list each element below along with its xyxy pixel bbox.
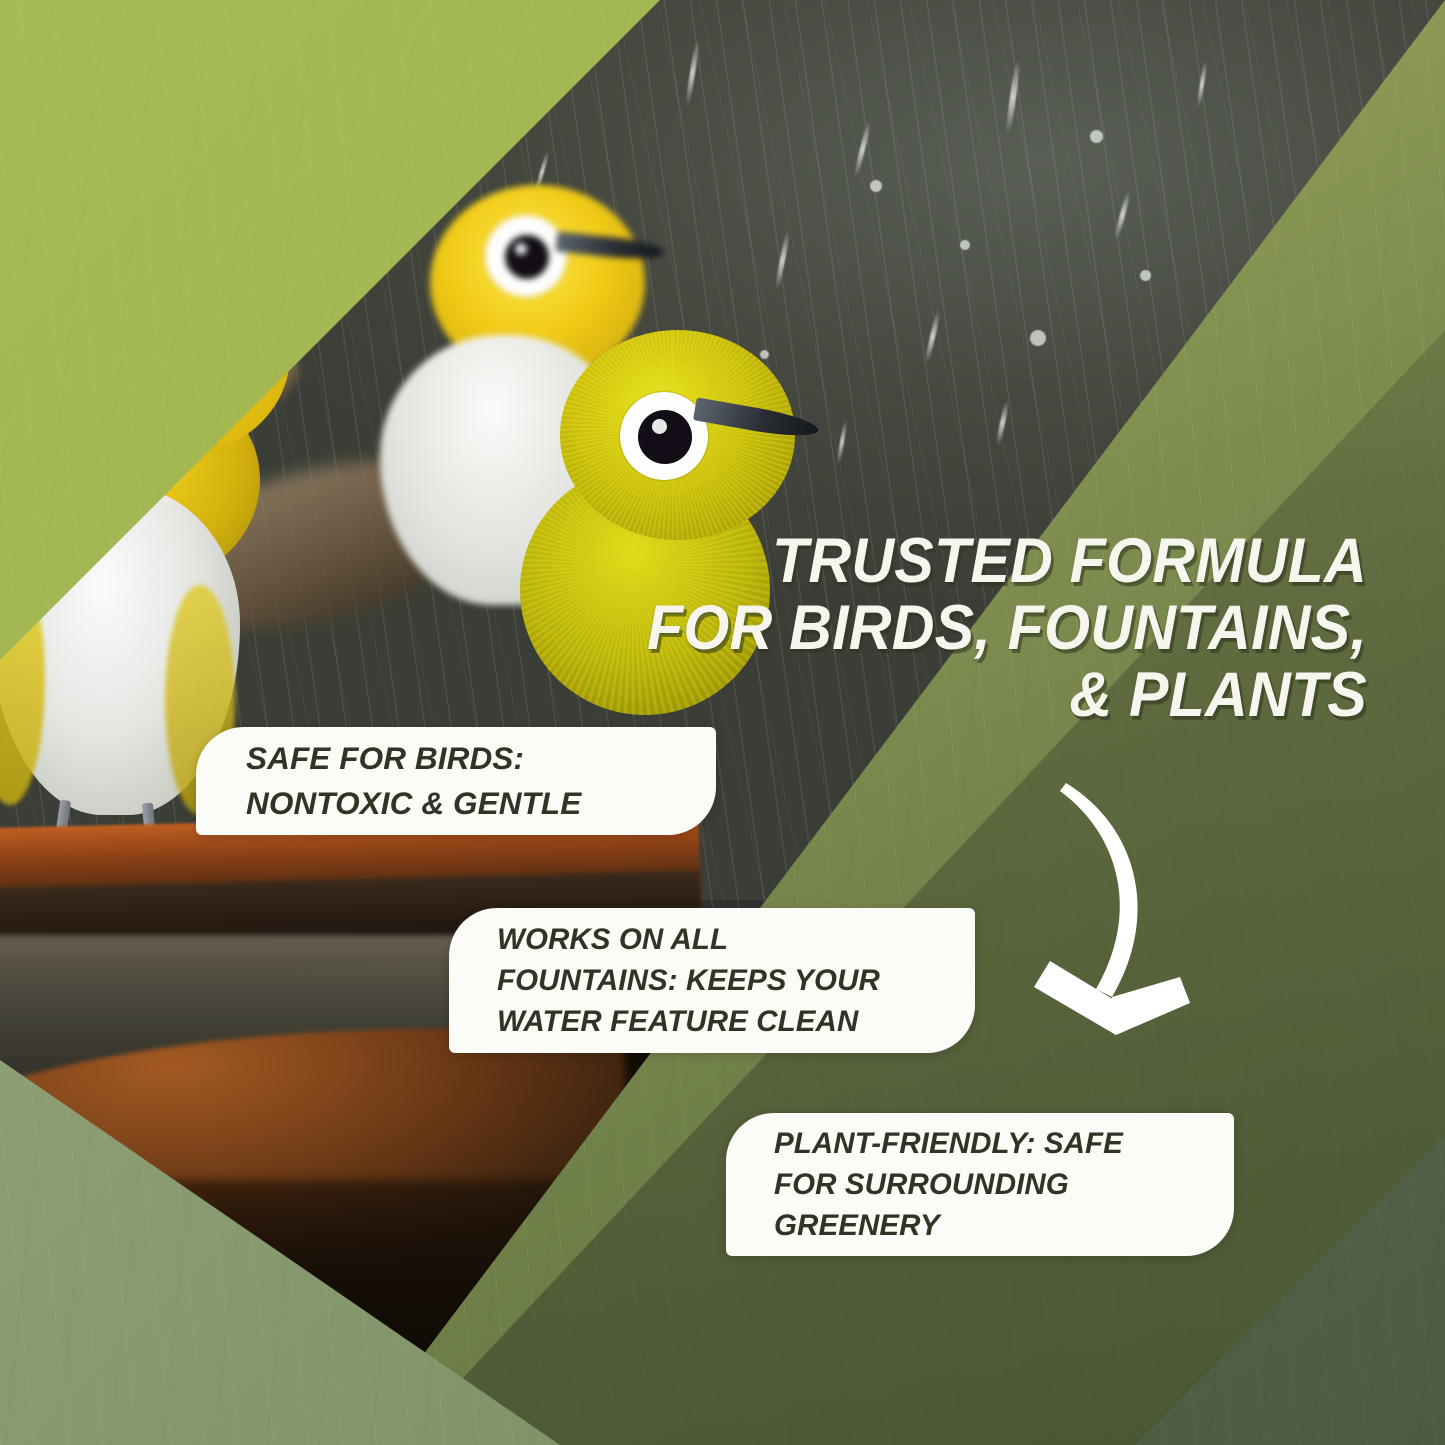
callout-line: GREENERY	[774, 1205, 1234, 1246]
bird-pupil	[638, 410, 692, 464]
callout-line: FOR SURROUNDING	[774, 1164, 1234, 1205]
bird-eye-glint	[652, 419, 667, 434]
water-droplet	[1090, 130, 1103, 143]
bird-eye-glint	[515, 243, 527, 255]
bird-pupil	[505, 235, 549, 279]
bird-wing	[0, 255, 50, 415]
water-droplet	[1030, 330, 1046, 346]
callout-safe-for-birds: SAFE FOR BIRDS: NONTOXIC & GENTLE	[196, 727, 716, 835]
water-droplet	[960, 240, 970, 250]
bird-pupil	[137, 310, 189, 362]
callout-line: SAFE FOR BIRDS:	[246, 736, 716, 781]
water-droplet	[1140, 270, 1151, 281]
infographic-canvas: TRUSTED FORMULA FOR BIRDS, FOUNTAINS, & …	[0, 0, 1445, 1445]
headline: TRUSTED FORMULA FOR BIRDS, FOUNTAINS, & …	[615, 528, 1367, 728]
water-droplet	[870, 180, 882, 192]
callout-line: WATER FEATURE CLEAN	[497, 1001, 975, 1042]
headline-line-1: TRUSTED FORMULA	[615, 528, 1367, 595]
callout-line: WORKS ON ALL	[497, 919, 975, 960]
callout-plant-friendly: PLANT-FRIENDLY: SAFE FOR SURROUNDING GRE…	[726, 1113, 1234, 1256]
headline-line-2: FOR BIRDS, FOUNTAINS,	[615, 595, 1367, 662]
callout-line: FOUNTAINS: KEEPS YOUR	[497, 960, 975, 1001]
callout-works-on-all-fountains: WORKS ON ALL FOUNTAINS: KEEPS YOUR WATER…	[449, 908, 975, 1053]
bird-eye-glint	[150, 319, 164, 333]
callout-line: PLANT-FRIENDLY: SAFE	[774, 1123, 1234, 1164]
callout-line: NONTOXIC & GENTLE	[246, 781, 716, 826]
curved-down-arrow-icon	[1020, 765, 1250, 1035]
headline-line-3: & PLANTS	[615, 662, 1367, 729]
